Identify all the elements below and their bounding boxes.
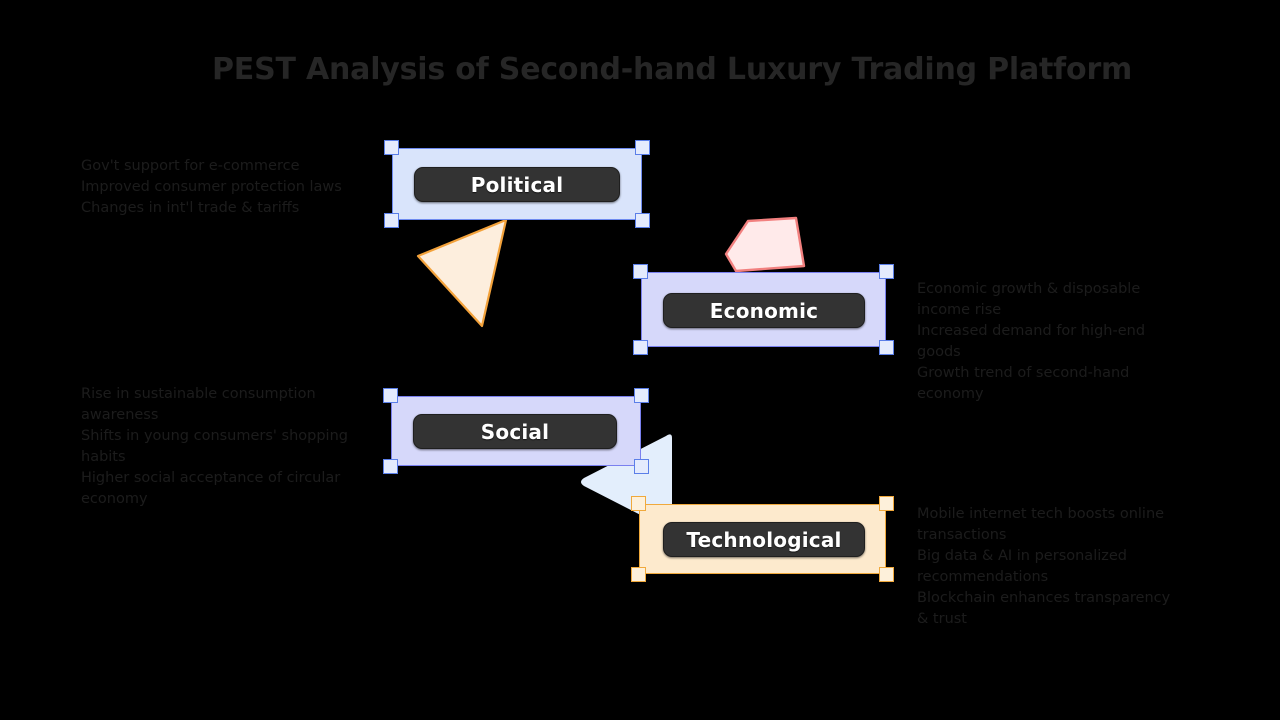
resize-handle-bottom-left[interactable] [631,567,646,582]
bullet-item: Growth trend of second-hand economy [917,363,1185,405]
resize-handle-top-right[interactable] [635,140,650,155]
bullets-technological: Mobile internet tech boosts online trans… [917,504,1185,630]
bullet-item: Improved consumer protection laws [81,177,371,198]
resize-handle-top-left[interactable] [384,140,399,155]
node-economic-pill[interactable]: Economic [663,293,865,328]
bullets-economic: Economic growth & disposable income rise… [917,279,1185,405]
bullet-item: Economic growth & disposable income rise [917,279,1185,321]
node-technological[interactable]: Technological [639,504,886,574]
resize-handle-bottom-right[interactable] [635,213,650,228]
bullet-item: Gov't support for e-commerce [81,156,371,177]
resize-handle-top-right[interactable] [634,388,649,403]
node-social-pill[interactable]: Social [413,414,617,449]
bullet-item: Rise in sustainable consumption awarenes… [81,384,361,426]
bullet-item: Shifts in young consumers' shopping habi… [81,426,361,468]
node-social-label: Social [481,420,549,444]
resize-handle-top-right[interactable] [879,496,894,511]
node-social[interactable]: Social [391,396,641,466]
bullet-item: Higher social acceptance of circular eco… [81,468,361,510]
resize-handle-bottom-left[interactable] [383,459,398,474]
bullet-item: Blockchain enhances transparency & trust [917,588,1185,630]
node-technological-label: Technological [686,528,841,552]
resize-handle-top-left[interactable] [631,496,646,511]
bullet-item: Increased demand for high-end goods [917,321,1185,363]
resize-handle-top-left[interactable] [633,264,648,279]
pink-trapezoid-shape[interactable] [718,216,810,278]
bullets-political: Gov't support for e-commerce Improved co… [81,156,371,219]
resize-handle-top-right[interactable] [879,264,894,279]
bullet-item: Changes in int'l trade & tariffs [81,198,371,219]
bullet-item: Mobile internet tech boosts online trans… [917,504,1185,546]
bullets-social: Rise in sustainable consumption awarenes… [81,384,361,510]
resize-handle-bottom-right[interactable] [879,340,894,355]
node-technological-pill[interactable]: Technological [663,522,865,557]
resize-handle-bottom-left[interactable] [384,213,399,228]
node-political-label: Political [471,173,564,197]
page-title: PEST Analysis of Second-hand Luxury Trad… [212,52,1112,87]
bullet-item: Big data & AI in personalized recommenda… [917,546,1185,588]
slide-canvas: PEST Analysis of Second-hand Luxury Trad… [0,0,1280,720]
resize-handle-bottom-left[interactable] [633,340,648,355]
node-economic[interactable]: Economic [641,272,886,347]
node-political-pill[interactable]: Political [414,167,620,202]
resize-handle-bottom-right[interactable] [879,567,894,582]
resize-handle-top-left[interactable] [383,388,398,403]
node-economic-label: Economic [710,299,818,323]
resize-handle-bottom-right[interactable] [634,459,649,474]
peach-triangle-shape[interactable] [400,218,520,330]
node-political[interactable]: Political [392,148,642,220]
